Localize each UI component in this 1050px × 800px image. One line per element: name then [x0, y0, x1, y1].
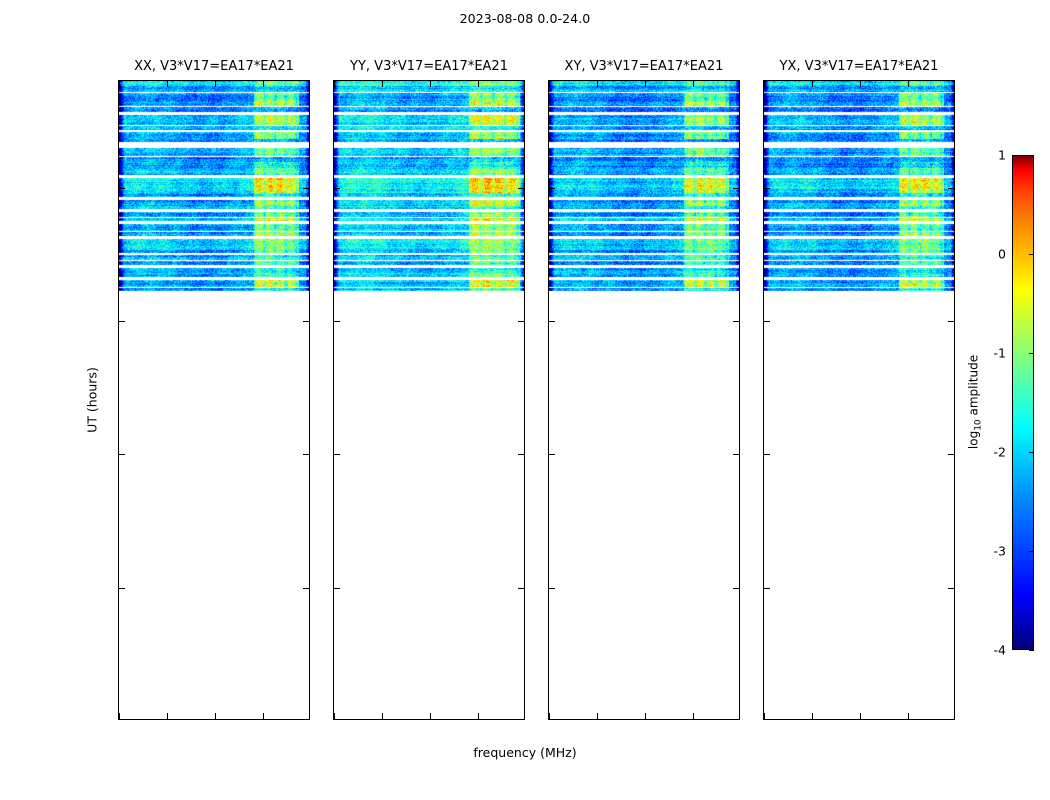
panel-title: XY, V3*V17=EA17*EA21: [565, 59, 724, 74]
x-tick: [645, 713, 646, 719]
colorbar-tick: [1029, 650, 1034, 651]
y-tick: [764, 454, 770, 455]
x-tick: [263, 81, 264, 87]
x-axis-label: frequency (MHz): [0, 745, 1050, 760]
y-tick: [119, 454, 125, 455]
x-tick: [119, 713, 120, 719]
x-tick: [812, 713, 813, 719]
x-tick: [430, 81, 431, 87]
x-tick: [597, 713, 598, 719]
y-tick: [518, 188, 524, 189]
y-tick: [549, 454, 555, 455]
y-tick: [303, 188, 309, 189]
colorbar[interactable]: -4-3-2-101: [1012, 155, 1034, 650]
colorbar-tick-label: -2: [994, 445, 1006, 460]
y-tick: [303, 454, 309, 455]
y-tick: [303, 321, 309, 322]
y-tick: [518, 321, 524, 322]
colorbar-tick-label: 1: [998, 148, 1006, 163]
x-tick: [908, 713, 909, 719]
colorbar-tick: [1029, 551, 1034, 552]
x-tick: [478, 81, 479, 87]
panel-title: XX, V3*V17=EA17*EA21: [134, 59, 294, 74]
y-tick: [334, 588, 340, 589]
colorbar-tick-label: -4: [994, 643, 1006, 658]
x-tick: [430, 713, 431, 719]
x-tick: [334, 81, 335, 87]
spectrogram-raster: [334, 81, 524, 291]
y-tick: [549, 321, 555, 322]
x-tick: [860, 713, 861, 719]
y-tick: [733, 321, 739, 322]
x-tick: [764, 713, 765, 719]
colorbar-label-tail: amplitude: [966, 355, 980, 419]
colorbar-tick: [1029, 254, 1034, 255]
colorbar-tick-label: -1: [994, 346, 1006, 361]
y-tick: [119, 321, 125, 322]
y-tick: [119, 188, 125, 189]
colorbar-tick: [1029, 155, 1034, 156]
x-tick: [693, 713, 694, 719]
figure-suptitle: 2023-08-08 0.0-24.0: [0, 11, 1050, 26]
y-tick: [733, 188, 739, 189]
plot-area[interactable]: 05101520320335350365380: [548, 80, 740, 720]
colorbar-label-base: log: [966, 431, 980, 449]
x-tick: [860, 81, 861, 87]
x-tick: [263, 713, 264, 719]
x-tick: [215, 713, 216, 719]
x-tick: [382, 713, 383, 719]
x-tick: [167, 713, 168, 719]
plot-area[interactable]: 05101520320335350365380: [333, 80, 525, 720]
y-tick: [303, 588, 309, 589]
plot-area[interactable]: 05101520320335350365380: [118, 80, 310, 720]
y-tick: [518, 454, 524, 455]
spectrogram-raster: [549, 81, 739, 291]
colorbar-label-sub: 10: [974, 419, 984, 430]
y-tick: [549, 588, 555, 589]
y-tick: [518, 588, 524, 589]
x-tick: [764, 81, 765, 87]
data-raster: [764, 81, 954, 291]
y-tick: [119, 588, 125, 589]
y-tick: [733, 454, 739, 455]
data-raster: [334, 81, 524, 291]
y-tick: [948, 454, 954, 455]
y-tick: [948, 321, 954, 322]
x-tick: [119, 81, 120, 87]
colorbar-label: log10 amplitude: [966, 355, 983, 449]
y-tick: [764, 588, 770, 589]
colorbar-tick: [1029, 353, 1034, 354]
x-tick: [645, 81, 646, 87]
x-tick: [693, 81, 694, 87]
colorbar-tick-label: 0: [998, 247, 1006, 262]
y-tick: [334, 454, 340, 455]
panel-yy[interactable]: YY, V3*V17=EA17*EA2105101520320335350365…: [333, 80, 525, 720]
x-tick: [334, 713, 335, 719]
x-tick: [382, 81, 383, 87]
x-tick: [478, 713, 479, 719]
y-tick: [549, 188, 555, 189]
colorbar-gradient: [1012, 155, 1034, 650]
x-tick: [215, 81, 216, 87]
panel-yx[interactable]: YX, V3*V17=EA17*EA2105101520320335350365…: [763, 80, 955, 720]
y-tick: [334, 188, 340, 189]
y-tick: [764, 321, 770, 322]
x-tick: [549, 81, 550, 87]
figure-canvas: 2023-08-08 0.0-24.0 XX, V3*V17=EA17*EA21…: [0, 0, 1050, 800]
panel-title: YY, V3*V17=EA17*EA21: [350, 59, 508, 74]
data-raster: [549, 81, 739, 291]
y-tick: [948, 188, 954, 189]
y-tick: [733, 588, 739, 589]
y-tick: [948, 588, 954, 589]
data-raster: [119, 81, 309, 291]
x-tick: [812, 81, 813, 87]
y-tick: [764, 188, 770, 189]
spectrogram-raster: [119, 81, 309, 291]
x-tick: [908, 81, 909, 87]
colorbar-tick-label: -3: [994, 544, 1006, 559]
x-tick: [167, 81, 168, 87]
panel-xx[interactable]: XX, V3*V17=EA17*EA2105101520320335350365…: [118, 80, 310, 720]
colorbar-tick: [1029, 452, 1034, 453]
x-tick: [597, 81, 598, 87]
plot-area[interactable]: 05101520320335350365380: [763, 80, 955, 720]
panel-xy[interactable]: XY, V3*V17=EA17*EA2105101520320335350365…: [548, 80, 740, 720]
y-tick: [334, 321, 340, 322]
x-tick: [549, 713, 550, 719]
panel-title: YX, V3*V17=EA17*EA21: [780, 59, 939, 74]
spectrogram-raster: [764, 81, 954, 291]
y-axis-label: UT (hours): [85, 367, 100, 433]
